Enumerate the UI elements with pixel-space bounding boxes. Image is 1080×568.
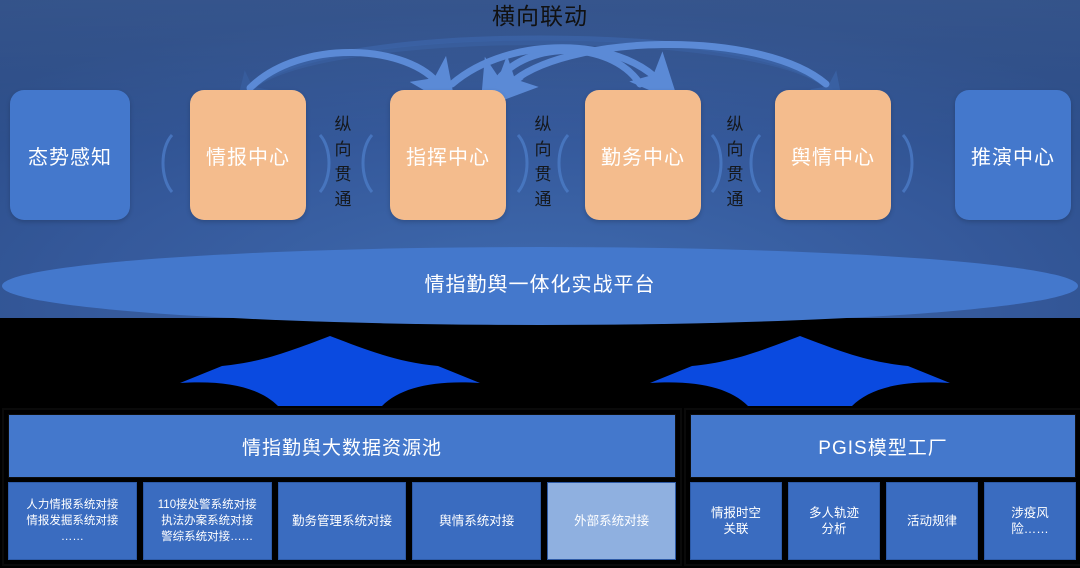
cell-activity-pattern[interactable]: 活动规律 [886, 482, 978, 560]
group-big-data-pool: 情指勤舆大数据资源池 人力情报系统对接 情报发掘系统对接 …… 110接处警系统… [2, 408, 682, 566]
center-box-deduction[interactable]: 推演中心 [955, 90, 1071, 220]
center-box-intelligence[interactable]: 情报中心 [190, 90, 306, 220]
cell-line: 活动规律 [907, 513, 957, 529]
vertical-label-3: 纵 向 贯 通 [722, 112, 748, 212]
center-box-command[interactable]: 指挥中心 [390, 90, 506, 220]
cell-duty-management[interactable]: 勤务管理系统对接 [278, 482, 407, 560]
platform-label: 情指勤舆一体化实战平台 [425, 268, 656, 297]
page-title: 横向联动 [0, 2, 1080, 30]
cell-external-system[interactable]: 外部系统对接 [547, 482, 676, 560]
center-box-label: 态势感知 [28, 141, 112, 170]
group-title-big-data-pool[interactable]: 情指勤舆大数据资源池 [8, 414, 676, 478]
center-box-label: 推演中心 [971, 141, 1055, 170]
group-cells-big-data-pool: 人力情报系统对接 情报发掘系统对接 …… 110接处警系统对接 执法办案系统对接… [8, 482, 676, 560]
vertical-label-2: 纵 向 贯 通 [530, 112, 556, 212]
cell-multi-person-track[interactable]: 多人轨迹 分析 [788, 482, 880, 560]
group-pgis-model-factory: PGIS模型工厂 情报时空 关联 多人轨迹 分析 活动规律 涉疫风 [684, 408, 1080, 566]
cell-line: 人力情报系统对接 [26, 497, 118, 513]
cell-line: 警综系统对接…… [158, 529, 257, 545]
cell-line: 110接处警系统对接 [158, 497, 257, 513]
diagram-canvas: 横向联动 态势感知 情报中心 指挥中心 勤务中心 舆情中心 推演中心 纵 向 贯… [0, 0, 1080, 568]
cell-hr-intel[interactable]: 人力情报系统对接 情报发掘系统对接 …… [8, 482, 137, 560]
cell-intel-spatiotemporal[interactable]: 情报时空 关联 [690, 482, 782, 560]
cell-line: 险…… [1011, 521, 1049, 537]
center-box-label: 勤务中心 [601, 141, 685, 170]
group-cells-pgis: 情报时空 关联 多人轨迹 分析 活动规律 涉疫风 险…… [690, 482, 1076, 560]
upward-arrow-left [180, 336, 480, 406]
upward-arrow-right [650, 336, 950, 406]
platform-ellipse[interactable]: 情指勤舆一体化实战平台 [2, 247, 1078, 325]
cell-line: 情报时空 [711, 505, 761, 521]
cell-line: 舆情系统对接 [439, 513, 514, 529]
cell-epidemic-risk[interactable]: 涉疫风 险…… [984, 482, 1076, 560]
center-box-label: 舆情中心 [791, 141, 875, 170]
center-box-duty[interactable]: 勤务中心 [585, 90, 701, 220]
vertical-label-1: 纵 向 贯 通 [330, 112, 356, 212]
upward-flow-arrows [0, 318, 1080, 406]
cell-line: 情报发掘系统对接 [26, 513, 118, 529]
cell-line: …… [26, 529, 118, 545]
cell-line: 关联 [711, 521, 761, 537]
center-box-label: 指挥中心 [406, 141, 490, 170]
cell-public-opinion-system[interactable]: 舆情系统对接 [412, 482, 541, 560]
cell-line: 分析 [809, 521, 859, 537]
cell-line: 多人轨迹 [809, 505, 859, 521]
cell-line: 勤务管理系统对接 [292, 513, 392, 529]
cell-110-alarm[interactable]: 110接处警系统对接 执法办案系统对接 警综系统对接…… [143, 482, 272, 560]
center-box-public-opinion[interactable]: 舆情中心 [775, 90, 891, 220]
center-box-label: 情报中心 [206, 141, 290, 170]
group-title-pgis[interactable]: PGIS模型工厂 [690, 414, 1076, 478]
cell-line: 涉疫风 [1011, 505, 1049, 521]
center-box-situation-awareness[interactable]: 态势感知 [10, 90, 130, 220]
cell-line: 执法办案系统对接 [158, 513, 257, 529]
cell-line: 外部系统对接 [574, 513, 649, 529]
